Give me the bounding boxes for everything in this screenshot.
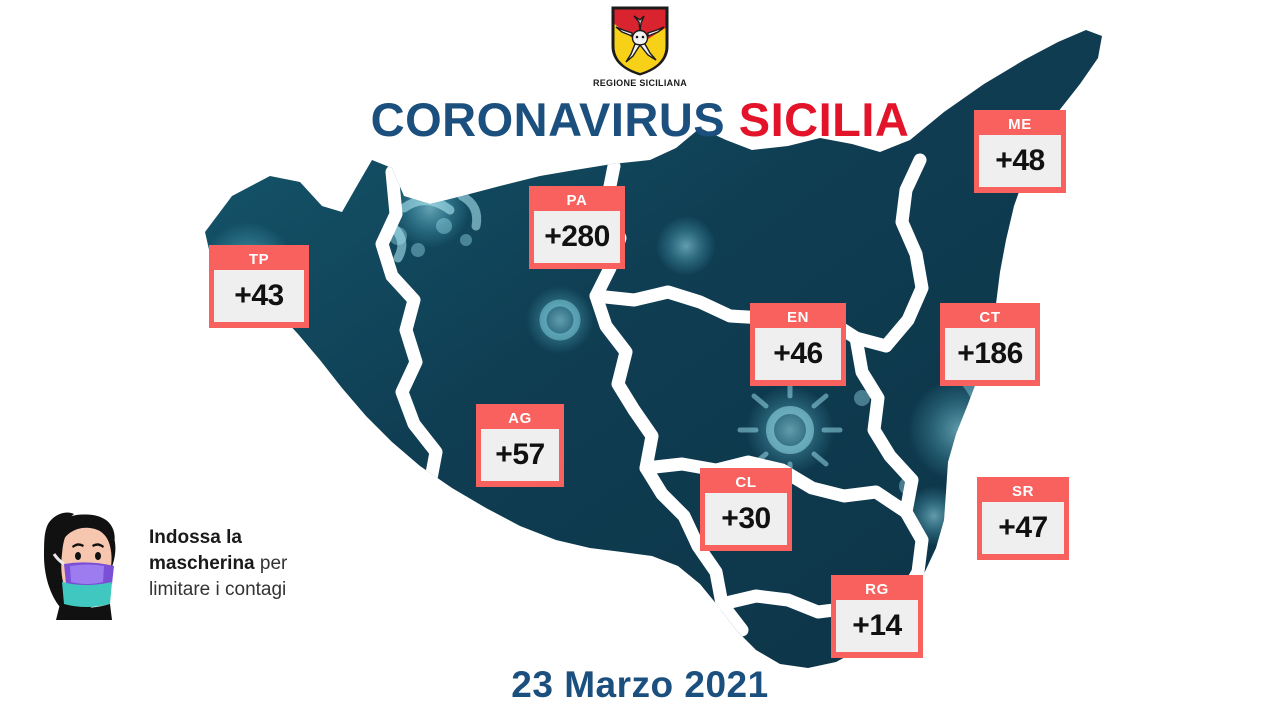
province-badge-cl: CL+30 — [700, 468, 792, 551]
infographic-root: REGIONE SICILIANA CORONAVIRUS SICILIA TP… — [0, 0, 1280, 720]
province-badge-rg: RG+14 — [831, 575, 923, 658]
mask-line2-rest: per — [255, 553, 288, 574]
province-code-label: RG — [836, 579, 918, 600]
person-wearing-mask-icon — [30, 508, 135, 620]
province-code-label: AG — [481, 408, 559, 429]
province-badge-sr: SR+47 — [977, 477, 1069, 560]
report-date: 23 Marzo 2021 — [0, 664, 1280, 706]
province-badge-pa: PA+280 — [529, 186, 625, 269]
province-code-label: CL — [705, 472, 787, 493]
page-title: CORONAVIRUS SICILIA — [0, 92, 1280, 147]
mask-line2-bold: mascherina — [149, 553, 255, 574]
province-new-cases-value: +280 — [534, 211, 620, 263]
province-new-cases-value: +43 — [214, 270, 304, 322]
province-code-label: CT — [945, 307, 1035, 328]
province-new-cases-value: +48 — [979, 135, 1061, 187]
mask-reminder: Indossa la mascherina per limitare i con… — [30, 508, 287, 620]
regione-siciliana-emblem: REGIONE SICILIANA — [0, 4, 1280, 88]
province-badge-en: EN+46 — [750, 303, 846, 386]
province-badge-tp: TP+43 — [209, 245, 309, 328]
province-badge-ag: AG+57 — [476, 404, 564, 487]
title-accent: SICILIA — [739, 93, 910, 146]
province-code-label: TP — [214, 249, 304, 270]
province-new-cases-value: +14 — [836, 600, 918, 652]
province-new-cases-value: +46 — [755, 328, 841, 380]
province-badge-ct: CT+186 — [940, 303, 1040, 386]
province-code-label: SR — [982, 481, 1064, 502]
mask-reminder-text: Indossa la mascherina per limitare i con… — [149, 525, 287, 603]
province-code-label: EN — [755, 307, 841, 328]
trinacria-shield-icon — [609, 4, 671, 76]
province-badge-me: ME+48 — [974, 110, 1066, 193]
province-new-cases-value: +57 — [481, 429, 559, 481]
mask-line1: Indossa la — [149, 527, 242, 548]
province-new-cases-value: +47 — [982, 502, 1064, 554]
province-new-cases-value: +186 — [945, 328, 1035, 380]
emblem-caption: REGIONE SICILIANA — [593, 78, 687, 88]
province-new-cases-value: +30 — [705, 493, 787, 545]
mask-line3: limitare i contagi — [149, 579, 286, 600]
province-code-label: ME — [979, 114, 1061, 135]
province-code-label: PA — [534, 190, 620, 211]
title-main: CORONAVIRUS — [371, 93, 726, 146]
